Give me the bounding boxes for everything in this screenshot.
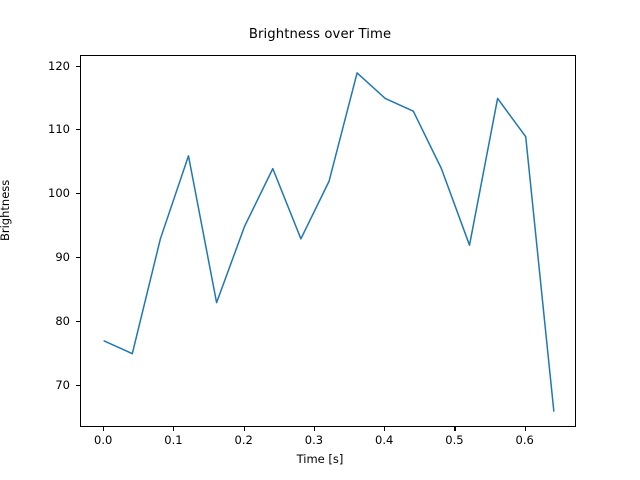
line-chart-svg [81,56,577,428]
brightness-series-line [104,73,554,411]
x-tick-label: 0.4 [375,433,393,447]
y-tick-label: 90 [20,250,70,264]
y-tick-label: 100 [20,186,70,200]
x-tick-label: 0.0 [94,433,112,447]
y-axis-label: Brightness [0,180,12,241]
y-tick-label: 70 [20,378,70,392]
chart-title: Brightness over Time [0,27,640,42]
x-axis-label: Time [s] [0,452,640,466]
x-tick-label: 0.6 [516,433,534,447]
matplotlib-figure: Brightness over Time Brightness Time [s]… [0,0,640,480]
plot-area [80,55,576,427]
y-tick-label: 80 [20,314,70,328]
y-tick-label: 120 [20,59,70,73]
x-tick-label: 0.5 [445,433,463,447]
x-tick-label: 0.2 [235,433,253,447]
y-tick-label: 110 [20,122,70,136]
x-tick-label: 0.3 [305,433,323,447]
x-tick-label: 0.1 [164,433,182,447]
